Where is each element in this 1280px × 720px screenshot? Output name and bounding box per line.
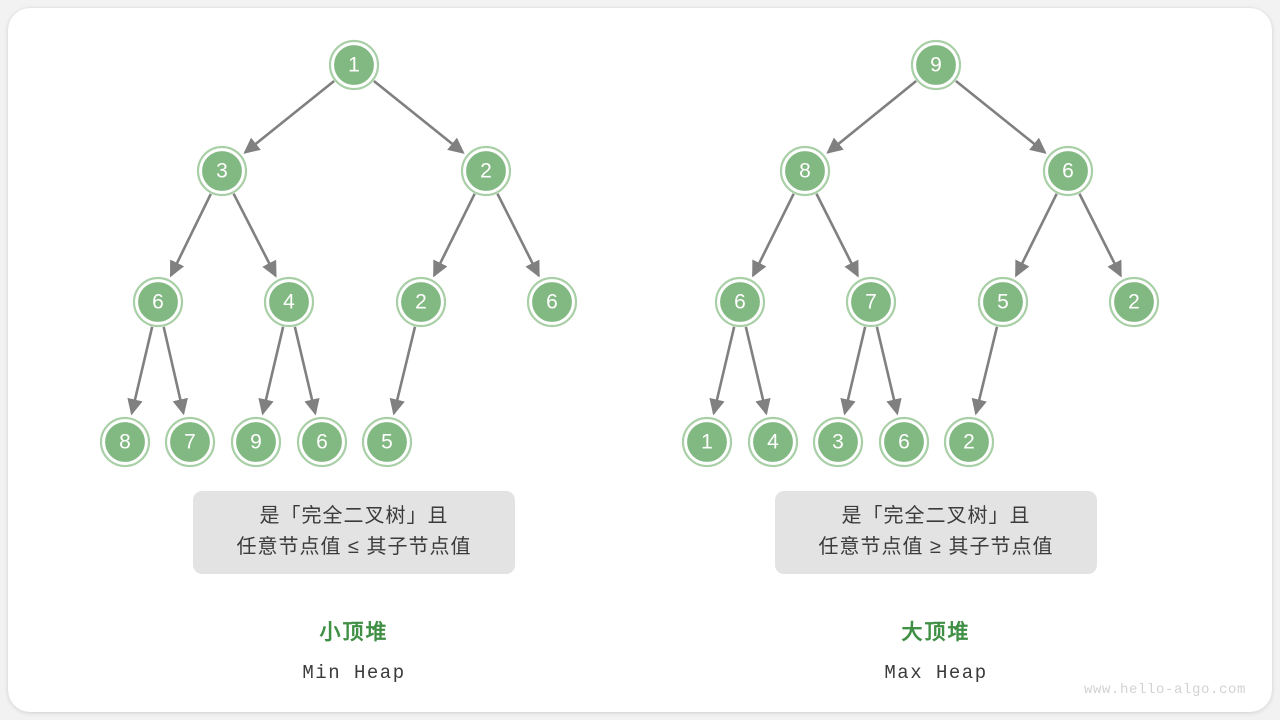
- node-value: 3: [216, 160, 228, 183]
- tree-edge: [263, 327, 283, 413]
- tree-node: 1: [330, 41, 378, 89]
- node-value: 6: [734, 291, 746, 314]
- tree-edge: [497, 194, 538, 276]
- tree-edge: [845, 327, 865, 413]
- node-value: 5: [997, 291, 1009, 314]
- node-value: 4: [283, 291, 295, 314]
- tree-edge: [828, 81, 916, 152]
- min-heap-title-en: Min Heap: [254, 662, 454, 684]
- tree-nodes: 132642687965986675214362: [101, 41, 1158, 466]
- tree-node: 1: [683, 418, 731, 466]
- tree-edge: [976, 327, 997, 414]
- tree-node: 2: [1110, 278, 1158, 326]
- tree-edge: [132, 327, 152, 413]
- tree-node: 4: [265, 278, 313, 326]
- caption-line-2: 任意节点值 ≥ 其子节点值: [818, 532, 1053, 563]
- node-value: 6: [546, 291, 558, 314]
- node-value: 8: [799, 160, 811, 183]
- caption-line-1: 是「完全二叉树」且: [260, 501, 449, 532]
- tree-edge: [816, 194, 857, 276]
- tree-edge: [295, 327, 315, 413]
- node-value: 4: [767, 431, 779, 454]
- tree-node: 6: [716, 278, 764, 326]
- node-value: 2: [480, 160, 492, 183]
- tree-node: 8: [781, 147, 829, 195]
- tree-node: 6: [134, 278, 182, 326]
- node-value: 7: [865, 291, 877, 314]
- tree-edge: [234, 194, 276, 276]
- tree-edge: [746, 327, 766, 413]
- diagram-canvas: 132642687965986675214362 是「完全二叉树」且 任意节点值…: [0, 0, 1280, 720]
- max-heap-title-en: Max Heap: [836, 662, 1036, 684]
- min-heap-title-zh: 小顶堆: [254, 616, 454, 646]
- node-value: 6: [316, 431, 328, 454]
- tree-node: 6: [880, 418, 928, 466]
- node-value: 2: [415, 291, 427, 314]
- tree-edges: [132, 81, 1121, 413]
- tree-node: 8: [101, 418, 149, 466]
- tree-node: 5: [979, 278, 1027, 326]
- tree-node: 2: [462, 147, 510, 195]
- tree-node: 4: [749, 418, 797, 466]
- tree-node: 6: [528, 278, 576, 326]
- tree-edge: [374, 81, 463, 153]
- tree-node: 7: [847, 278, 895, 326]
- tree-edge: [1079, 194, 1120, 276]
- tree-edge: [245, 81, 334, 153]
- node-value: 6: [898, 431, 910, 454]
- tree-node: 3: [814, 418, 862, 466]
- node-value: 5: [381, 431, 393, 454]
- site-watermark: www.hello-algo.com: [1084, 682, 1246, 698]
- tree-node: 9: [232, 418, 280, 466]
- tree-node: 9: [912, 41, 960, 89]
- heap-trees-svg: 132642687965986675214362: [0, 0, 1280, 720]
- caption-box-min-heap: 是「完全二叉树」且 任意节点值 ≤ 其子节点值: [193, 491, 515, 574]
- caption-line-1: 是「完全二叉树」且: [842, 501, 1031, 532]
- node-value: 2: [963, 431, 975, 454]
- tree-edge: [714, 327, 734, 413]
- tree-node: 5: [363, 418, 411, 466]
- tree-node: 7: [166, 418, 214, 466]
- tree-edge: [171, 194, 211, 276]
- node-value: 2: [1128, 291, 1140, 314]
- tree-edge: [877, 327, 897, 413]
- node-value: 7: [184, 431, 196, 454]
- caption-box-max-heap: 是「完全二叉树」且 任意节点值 ≥ 其子节点值: [775, 491, 1097, 574]
- tree-edge: [164, 327, 184, 413]
- node-value: 9: [250, 431, 262, 454]
- tree-edge: [753, 194, 794, 276]
- node-value: 1: [348, 54, 360, 77]
- tree-edge: [1016, 194, 1057, 276]
- node-value: 1: [701, 431, 713, 454]
- node-value: 6: [1062, 160, 1074, 183]
- caption-line-2: 任意节点值 ≤ 其子节点值: [236, 532, 471, 563]
- tree-node: 3: [198, 147, 246, 195]
- node-value: 8: [119, 431, 131, 454]
- node-value: 6: [152, 291, 164, 314]
- tree-edge: [434, 194, 475, 276]
- tree-node: 6: [1044, 147, 1092, 195]
- tree-edge: [956, 81, 1045, 153]
- node-value: 3: [832, 431, 844, 454]
- node-value: 9: [930, 54, 942, 77]
- tree-node: 2: [945, 418, 993, 466]
- tree-edge: [394, 327, 415, 414]
- tree-node: 2: [397, 278, 445, 326]
- tree-node: 6: [298, 418, 346, 466]
- max-heap-title-zh: 大顶堆: [836, 616, 1036, 646]
